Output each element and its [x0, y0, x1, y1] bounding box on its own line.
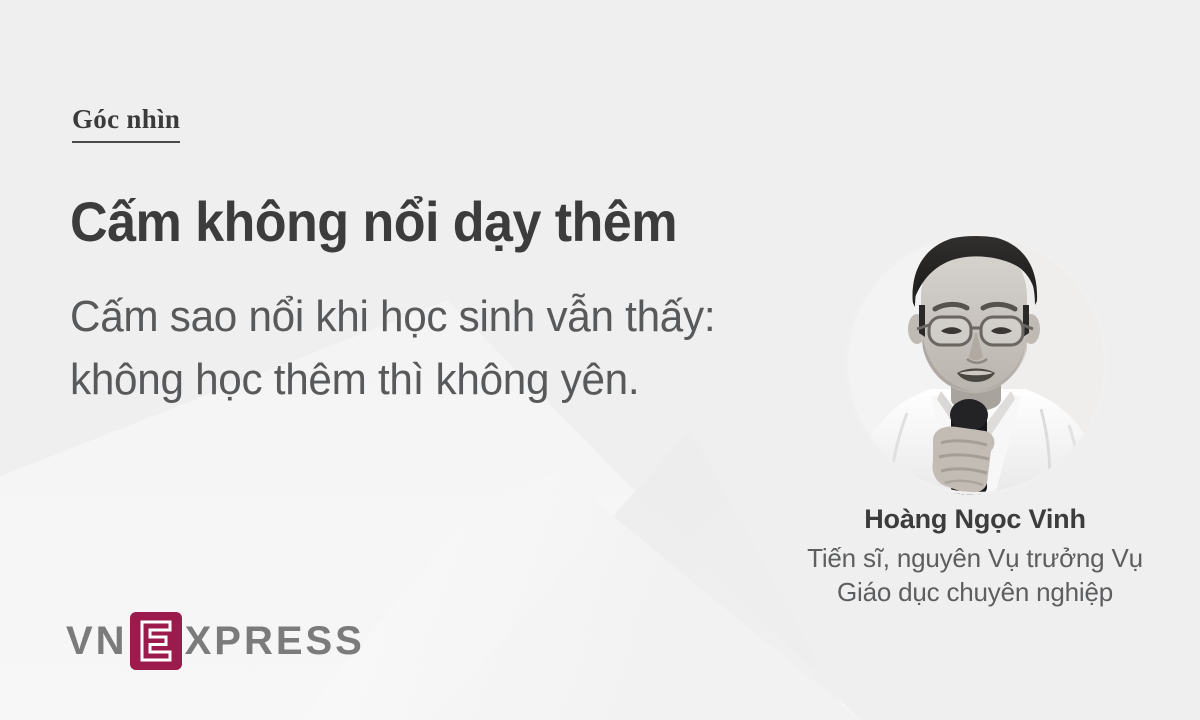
- byline: Hoàng Ngọc Vinh Tiến sĩ, nguyên Vụ trưởn…: [800, 503, 1150, 609]
- section-kicker-label: Góc nhìn: [72, 105, 180, 139]
- logo-e-glyph: [136, 619, 176, 663]
- logo-text-vn: VN: [66, 621, 128, 661]
- author-portrait: [845, 233, 1107, 495]
- portrait-image: [845, 233, 1107, 495]
- vnexpress-logo[interactable]: VN XPRESS: [66, 612, 365, 670]
- author-title: Tiến sĩ, nguyên Vụ trưởng Vụ Giáo dục ch…: [800, 541, 1150, 609]
- background-wedge-edge: [300, 470, 860, 720]
- logo-e-mark: [130, 612, 182, 670]
- author-name: Hoàng Ngọc Vinh: [800, 503, 1150, 537]
- section-kicker-underline: [72, 141, 180, 143]
- opinion-card: Góc nhìn Cấm không nổi dạy thêm Cấm sao …: [0, 0, 1200, 720]
- logo-text-xpress: XPRESS: [185, 621, 365, 661]
- background-wedge-soft: [430, 430, 850, 720]
- headline[interactable]: Cấm không nổi dạy thêm: [70, 192, 805, 251]
- deck-summary: Cấm sao nổi khi học sinh vẫn thấy: không…: [70, 285, 780, 411]
- section-kicker[interactable]: Góc nhìn: [72, 105, 180, 143]
